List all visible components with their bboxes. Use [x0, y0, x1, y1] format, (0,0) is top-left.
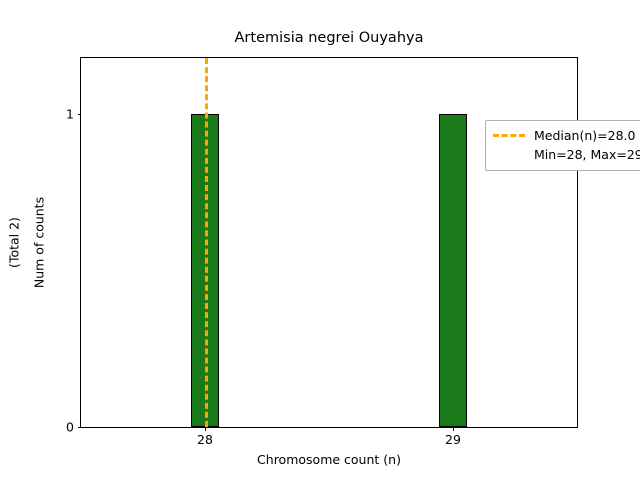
bar-29: [439, 114, 466, 427]
y-tick-label-0: 0: [66, 420, 74, 435]
x-tick-mark: [453, 427, 454, 431]
legend-entry-median: Median(n)=28.0: [493, 126, 640, 145]
matplotlib-figure: Artemisia negrei Ouyahya 0 1 28 29 Media…: [0, 0, 640, 480]
x-tick-mark: [205, 427, 206, 431]
chart-title: Artemisia negrei Ouyahya: [80, 30, 578, 46]
x-tick-label-29: 29: [445, 432, 461, 447]
y-axis-label-group: Num of counts (Total 2): [0, 57, 62, 428]
y-tick-mark: [78, 114, 82, 115]
legend-label-median: Median(n)=28.0: [534, 128, 635, 143]
legend: Median(n)=28.0 Min=28, Max=29: [485, 120, 640, 171]
y-tick-label-1: 1: [66, 107, 74, 122]
y-axis-label-main: Num of counts: [32, 142, 47, 342]
y-axis-label-total: (Total 2): [7, 142, 22, 342]
x-axis-label: Chromosome count (n): [80, 452, 578, 467]
dashed-line-swatch-icon: [493, 134, 525, 137]
median-line: [205, 58, 208, 427]
legend-label-range: Min=28, Max=29: [534, 147, 640, 162]
bars-layer: [81, 58, 577, 427]
legend-entry-range: Min=28, Max=29: [493, 145, 640, 164]
y-tick-mark: [78, 427, 82, 428]
blank-swatch-icon: [493, 153, 525, 156]
plot-area: 0 1 28 29 Median(n)=28.0 Min=28, Max=29: [80, 57, 578, 428]
x-tick-label-28: 28: [197, 432, 213, 447]
